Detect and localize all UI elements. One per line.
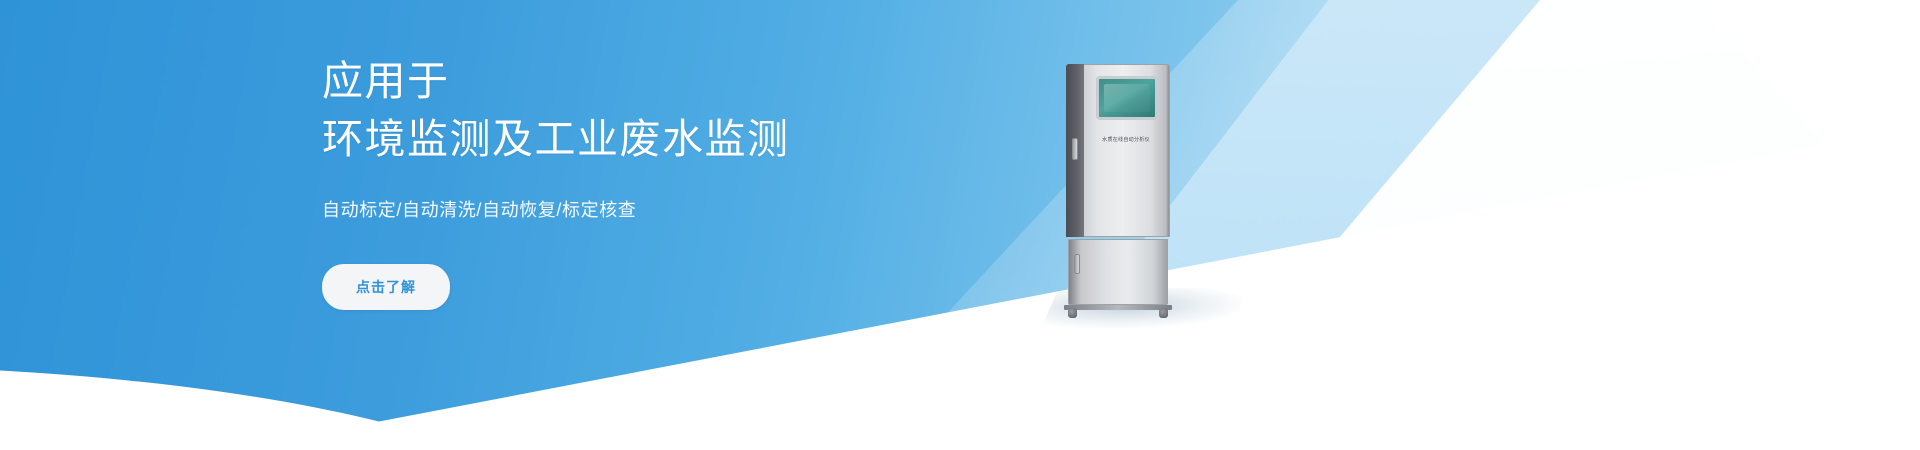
analyzer-lower-cabinet xyxy=(1068,239,1168,305)
hero-subtitle: 自动标定/自动清洗/自动恢复/标定核查 xyxy=(322,196,1082,222)
hero-banner: 水质在线自动分析仪 应用于 环境监测及工业废水监测 自动标定/自动清洗/自动恢复… xyxy=(0,0,1920,450)
analyzer-screen-glare xyxy=(1104,84,1150,112)
analyzer-product-label: 水质在线自动分析仪 xyxy=(1084,136,1168,143)
analyzer-display-screen xyxy=(1096,76,1158,120)
background-bottom-strip xyxy=(0,442,1920,450)
page-title: 应用于 环境监测及工业废水监测 xyxy=(322,52,1082,168)
headline-line-2: 环境监测及工业废水监测 xyxy=(322,110,1082,168)
learn-more-button[interactable]: 点击了解 xyxy=(322,264,450,310)
hero-content: 应用于 环境监测及工业废水监测 自动标定/自动清洗/自动恢复/标定核查 点击了解 xyxy=(322,52,1082,310)
analyzer-caster-right xyxy=(1159,308,1168,318)
headline-line-1: 应用于 xyxy=(322,58,450,104)
